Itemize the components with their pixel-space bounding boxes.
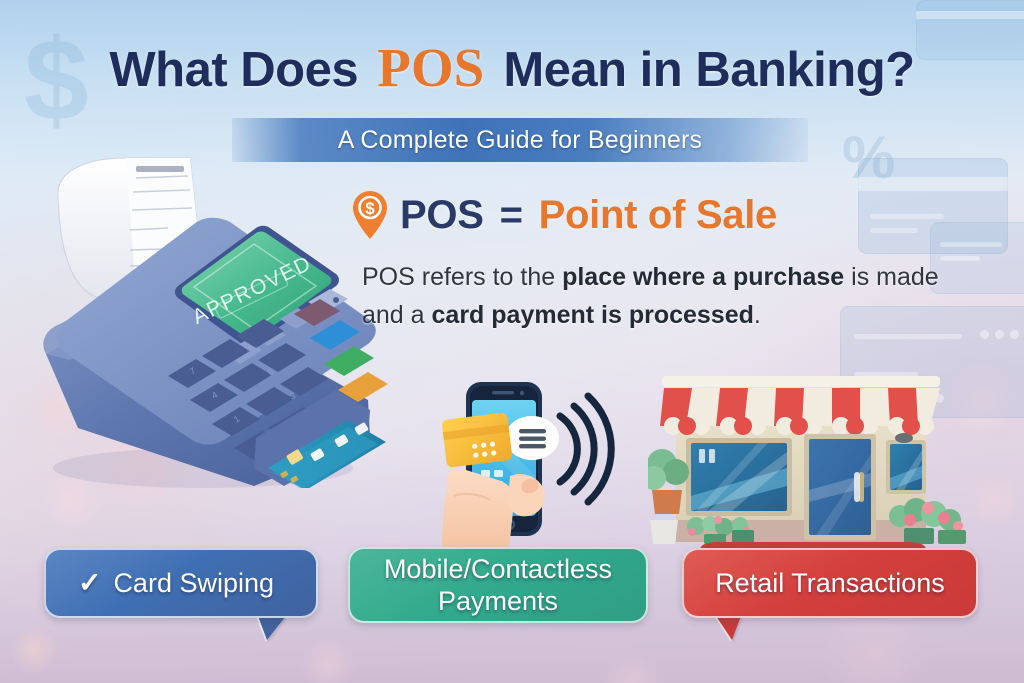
callout-mobile-contactless[interactable]: Mobile/Contactless Payments: [348, 547, 648, 623]
mobile-contactless-illustration: [440, 378, 650, 563]
callout-label: Card Swiping: [103, 567, 284, 599]
title-after: Mean in Banking?: [503, 43, 914, 97]
bokeh-dot: [300, 636, 356, 683]
entry-door: [804, 434, 876, 540]
side-window: [886, 433, 926, 494]
pos-terminal-illustration: APPROVED: [18, 138, 388, 488]
shop-window: [686, 438, 792, 516]
nfc-waves: [560, 396, 611, 502]
retail-storefront-illustration: [648, 368, 978, 568]
yellow-credit-card: [441, 412, 512, 468]
definition-text: POS refers to the: [362, 263, 562, 291]
definition-paragraph: POS refers to the place where a purchase…: [362, 258, 962, 334]
equation-operator: =: [496, 193, 527, 238]
callout-label-line-2: Payments: [438, 586, 558, 616]
callout-label: Retail Transactions: [705, 567, 955, 599]
watermark-card-icon: [858, 158, 1008, 254]
callout-card-swiping[interactable]: ✓ Card Swiping: [44, 548, 318, 618]
definition-text: is made: [844, 263, 938, 291]
equation-expansion: Point of Sale: [539, 193, 777, 238]
title-before: What Does: [109, 43, 358, 97]
striped-awning: [660, 388, 940, 435]
callout-red-tail: [716, 616, 741, 640]
watermark-percent-icon: %: [842, 128, 895, 188]
bokeh-dot: [600, 650, 666, 683]
subtitle-band: A Complete Guide for Beginners: [232, 118, 808, 162]
title-highlight-pos: POS: [371, 37, 490, 98]
definition-emphasis: card payment is processed: [432, 301, 754, 329]
definition-text: and a: [362, 301, 432, 329]
infographic-poster: $ %: [0, 0, 1024, 683]
definition-line-2: and a card payment is processed.: [362, 296, 962, 334]
check-icon: ✓: [78, 569, 101, 597]
subtitle-text: A Complete Guide for Beginners: [338, 126, 703, 155]
definition-text: .: [754, 301, 761, 329]
pos-definition-heading: $ POS = Point of Sale: [352, 190, 777, 240]
definition-line-1: POS refers to the place where a purchase…: [362, 258, 962, 296]
callout-retail-transactions[interactable]: Retail Transactions: [682, 548, 978, 618]
callout-label-line-1: Mobile/Contactless: [384, 554, 612, 584]
contactless-badge: [505, 416, 559, 460]
definition-emphasis: place where a purchase: [562, 263, 844, 291]
bokeh-dot: [10, 626, 58, 674]
callout-blue-tail: [258, 616, 286, 640]
callout-label: Mobile/Contactless Payments: [374, 553, 622, 618]
page-title: What Does POS Mean in Banking?: [0, 36, 1024, 99]
map-pin-dollar-icon: $: [352, 190, 388, 240]
equation-abbreviation: POS: [400, 193, 484, 238]
svg-text:$: $: [365, 199, 375, 218]
